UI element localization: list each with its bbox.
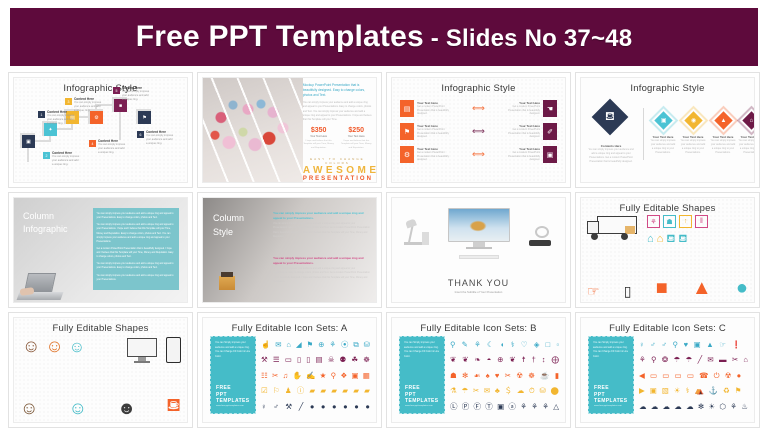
laptop-photo — [18, 272, 64, 300]
icon-a-3-8: ❖ — [340, 372, 347, 380]
header-banner: Free PPT Templates - Slides No 37~48 — [10, 8, 758, 66]
icon-grid-b: ⚲✎⚘☾◖⚕♡◈□▫ ❦❦❧◓⊕❦☨†↕⨁ ☗✻☙♠♥✂☢☸☕▮ ⚗☂✂✉♣＄☁… — [450, 337, 559, 414]
page-title: Free PPT Templates - Slides No 37~48 — [136, 20, 633, 54]
icon-a-2-3: ▭ — [285, 356, 292, 364]
icon-b-4-5: ♣ — [495, 387, 500, 395]
icon-c-3-10 — [746, 372, 748, 380]
icon-b-5-9: ⚘ — [542, 403, 549, 411]
thank-you-heading: THANK YOU — [392, 278, 565, 288]
icon-b-2-3: ❧ — [474, 356, 480, 364]
icon-c-2-3: ❂ — [662, 356, 668, 364]
icon-row-b-4: ⚗☂✂✉♣＄☁⏱⛁⬤ — [450, 383, 559, 398]
icon-a-5-1: ♀ — [261, 403, 267, 411]
icon-c-1-3: ♂ — [661, 341, 667, 349]
icon-c-3-2: ▭ — [650, 372, 657, 380]
diamond-1: ▣ — [654, 111, 672, 129]
slide-2-content: Mockup PowerPoint Presentation that is b… — [303, 83, 372, 182]
icon-b-1-3: ⚘ — [474, 341, 481, 349]
icon-row-b-2: ❦❦❧◓⊕❦☨†↕⨁ — [450, 352, 559, 367]
icon-b-2-9: ↕ — [542, 356, 546, 364]
slide-thumbnail-6[interactable]: Column Style You can simply impress your… — [197, 192, 382, 308]
step-text-1: You can simply impress your audience and… — [47, 114, 75, 126]
icon-a-2-1: ⚒ — [261, 356, 268, 364]
price-card-1: $350 Your Text Here I hope and believe t… — [303, 127, 335, 151]
price-text-1: I hope and believe that this Template wi… — [303, 140, 335, 151]
icon-a-2-4: ▯ — [297, 356, 301, 364]
banner-title-main: Free PPT Templates — [136, 20, 424, 53]
icon-b-2-7: ☨ — [522, 356, 526, 364]
diamond-1-text: You can simply impress your audience and… — [650, 139, 676, 154]
icon-a-2-6: ▤ — [315, 356, 322, 364]
slide-thumbnail-4[interactable]: Infographic Style ⛾ Contents Here You ca… — [575, 72, 760, 188]
free-ppt-card-a: You can Simply impress your audience and… — [210, 336, 256, 414]
row-1-right-text: Get a modern PowerPoint Presentation tha… — [502, 105, 540, 117]
diamond-4: ⌂ — [742, 111, 755, 129]
icon-c-3-8: ☢ — [725, 372, 732, 380]
icon-c-5-3: ☁ — [663, 403, 671, 411]
text-panel: You can simply impress your audience and… — [93, 208, 180, 290]
row-2-arrow-icon: ⟺ — [455, 127, 502, 136]
icon-a-1-7: ⚘ — [329, 341, 336, 349]
icon-c-4-8: ♻ — [723, 387, 730, 395]
icon-b-4-1: ⚗ — [450, 387, 457, 395]
scooter-delivery-icon: ● — [736, 278, 748, 298]
desk-scene-photo — [392, 204, 565, 260]
comparison-row-2: ⚑ Your Text HereGet a modern PowerPoint … — [400, 123, 557, 140]
slide-thumbnail-2[interactable]: Mockup PowerPoint Presentation that is b… — [197, 72, 382, 188]
comparison-row-1: ▤ Your Text HereGet a modern PowerPoint … — [400, 100, 557, 117]
diamond-4-text: You can simply impress your audience and… — [738, 139, 755, 154]
cardboard-box-photo — [219, 276, 235, 290]
character-laptop-delivery-icon: ☻ — [117, 398, 136, 419]
icon-b-2-2: ❦ — [462, 356, 468, 364]
icon-a-1-8: ⦿ — [341, 341, 349, 349]
icon-a-2-8: ⚉ — [340, 356, 347, 364]
row-3-left-text: Get a modern PowerPoint Presentation tha… — [417, 151, 455, 163]
icon-a-3-5: ✍ — [306, 372, 315, 380]
running-courier-icon: ▲ — [692, 278, 712, 298]
icon-c-4-1: ▶ — [639, 387, 645, 395]
tablet-device-icon — [166, 337, 181, 363]
slide-6-column-2: You can simply impress your audience and… — [273, 256, 370, 284]
step-number-5: 5 — [113, 87, 120, 94]
pricing-row: $350 Your Text Here I hope and believe t… — [303, 127, 372, 151]
icon-a-5-5: ● — [310, 403, 315, 411]
slide-6-heading-line2: Style — [213, 226, 244, 240]
diamond-3-icon: ▲ — [721, 117, 727, 123]
icon-c-4-5: ⚕ — [685, 387, 689, 395]
diamond-4-icon: ⌂ — [750, 118, 754, 124]
icon-b-2-5: ⊕ — [497, 356, 503, 364]
icon-c-2-1: ⚘ — [639, 356, 646, 364]
icon-a-1-4: ◢ — [296, 341, 302, 349]
column-2-heading: You can simply impress your audience and… — [273, 256, 370, 265]
icon-b-5-7: ⚘ — [520, 403, 527, 411]
icon-row-c-4: ▶▣▧☀⚕⛺⚓♻⚑ — [639, 383, 748, 398]
icon-b-1-6: ⚕ — [511, 341, 515, 349]
icon-b-3-10: ▮ — [555, 372, 559, 380]
slide-thumbnail-11[interactable]: Fully Editable Icon Sets: B You can Simp… — [386, 312, 571, 428]
icon-b-5-8: ⚘ — [531, 403, 538, 411]
diamond-2: ◉ — [684, 111, 702, 129]
diamond-2-text: You can simply impress your audience and… — [680, 139, 706, 154]
banner-title-sub: - Slides No 37~48 — [424, 25, 632, 52]
character-laptop-icon: ☺ — [69, 339, 85, 357]
do-not-stack-icon: ‖ — [695, 215, 708, 228]
icon-a-1-10: ⛁ — [364, 341, 370, 349]
thank-you-subtitle: Insert the Subtitle of Your Presentation — [392, 290, 565, 294]
icon-b-2-10: ⨁ — [551, 356, 559, 364]
icon-a-3-3: ♫ — [283, 372, 289, 380]
icon-a-4-8: ▰ — [342, 387, 348, 395]
icon-c-4-6: ⛺ — [694, 387, 703, 395]
delivery-truck-icon — [587, 214, 643, 244]
icon-b-1-10: ▫ — [556, 341, 559, 349]
price-caption-1: Your Text Here — [303, 135, 335, 138]
this-side-up-icon: ↑ — [679, 215, 692, 228]
character-woman-box-icon: ☺ — [22, 336, 40, 357]
monitor-icon — [448, 208, 510, 249]
card-b-top-text: You can Simply impress your audience and… — [404, 341, 440, 359]
price-amount-1: $350 — [303, 127, 335, 134]
icon-a-1-9: ⧉ — [353, 341, 358, 349]
step-number-6: 6 — [137, 131, 144, 138]
slide-5-paragraph-4: You can simply impress your audience and… — [97, 262, 176, 270]
icon-a-2-5: ▯ — [306, 356, 310, 364]
icon-c-4-7: ⚓ — [709, 387, 718, 395]
icon-b-5-10: △ — [553, 403, 559, 411]
icon-c-1-8: ☞ — [719, 341, 726, 349]
step-text-6: You can simply impress your audience and… — [146, 134, 174, 146]
template-preview-page: Free PPT Templates - Slides No 37~48 Inf… — [0, 8, 768, 435]
character-man-box-icon: ☺ — [20, 398, 38, 419]
card-c-brand-3: TEMPLATES — [594, 398, 628, 404]
row-1-left-icon: ▤ — [400, 100, 414, 117]
diamond-1-icon: ▣ — [661, 117, 667, 124]
icon-c-1-5: ♥ — [684, 341, 688, 349]
scooter-icon-b: ⛾ — [678, 233, 687, 247]
icon-c-3-4: ▭ — [675, 372, 682, 380]
slide-4-title: Infographic Style — [581, 83, 754, 94]
icon-b-3-3: ☙ — [474, 372, 481, 380]
icon-c-2-8: ▬ — [719, 356, 727, 364]
character-scooter-icon: ⛾ — [166, 395, 181, 419]
icon-b-5-6: ⓐ — [508, 403, 516, 411]
icon-c-3-6: ☎ — [699, 372, 708, 380]
icon-c-1-9: ❗ — [731, 341, 740, 349]
icon-c-4-9: ⚑ — [735, 387, 742, 395]
icon-a-4-4: ⓘ — [297, 387, 305, 395]
icon-c-1-1: ♀ — [639, 341, 645, 349]
icon-row-c-5: ☁☁☁☁☁✻☀⬡⚘♨ — [639, 399, 748, 414]
price-text-2: I hope and believe that this Template wi… — [340, 140, 372, 151]
icon-a-4-2: ⚐ — [273, 387, 280, 395]
price-card-2: $250 Your Text Here I hope and believe t… — [340, 127, 372, 151]
icon-row-b-3: ☗✻☙♠♥✂☢☸☕▮ — [450, 368, 559, 383]
icon-a-1-1: ☝ — [261, 341, 270, 349]
slide-5-paragraph-5: You can simply impress your audience and… — [97, 274, 176, 282]
slide-thumbnail-8[interactable]: Fully Editable Shapes ⚘ ☗ ↑ ‖ ⌂ ⌂ — [575, 192, 760, 308]
icon-a-4-6: ▰ — [320, 387, 326, 395]
icon-a-5-10: ● — [365, 403, 370, 411]
icon-a-5-8: ● — [343, 403, 348, 411]
icon-a-2-7: ☠ — [328, 356, 335, 364]
slide-5-heading-line1: Column — [23, 210, 68, 223]
icon-b-3-6: ✂ — [505, 372, 511, 380]
icon-a-3-1: ☷ — [261, 372, 268, 380]
icon-a-5-4: ╱ — [299, 403, 304, 411]
icon-c-5-8: ⬡ — [719, 403, 726, 411]
icon-c-4-3: ▧ — [662, 387, 669, 395]
icon-a-5-3: ⚒ — [285, 403, 292, 411]
icon-c-5-6: ✻ — [698, 403, 704, 411]
icon-b-4-2: ☂ — [461, 387, 468, 395]
icon-a-2-9: ☘ — [351, 356, 358, 364]
slide-thumbnail-9[interactable]: Fully Editable Shapes ☺ ☺ ☺ ☺ ☺ ☻ ⛾ — [8, 312, 193, 428]
icon-b-3-8: ☸ — [528, 372, 535, 380]
icon-row-a-4: ☑⚐♟ⓘ▰▰▰▰▰▰ — [261, 383, 370, 398]
row-3-right-text: Get a modern PowerPoint Presentation tha… — [502, 151, 540, 163]
card-a-top-text: You can Simply impress your audience and… — [215, 341, 251, 359]
icon-a-3-2: ✂ — [272, 372, 278, 380]
card-b-brand-3: TEMPLATES — [405, 398, 439, 404]
worker-with-trolley-icon: ■ — [656, 278, 668, 298]
scooter-icon: ⛾ — [605, 109, 615, 125]
slide-thumbnail-3[interactable]: Infographic Style ▤ Your Text HereGet a … — [386, 72, 571, 188]
slide-thumbnail-7[interactable]: THANK YOU Insert the Subtitle of Your Pr… — [386, 192, 571, 308]
icon-b-5-4: Ⓣ — [485, 403, 493, 411]
row-2-right-text: Get a modern PowerPoint Presentation tha… — [502, 128, 540, 140]
icon-a-2-10: ☸ — [363, 356, 370, 364]
icon-c-1-6: ▣ — [694, 341, 701, 349]
step-text-2: You can simply impress your audience and… — [52, 155, 80, 167]
icon-c-3-3: ▭ — [662, 372, 669, 380]
card-c-top-text: You can Simply impress your audience and… — [593, 341, 629, 359]
column-1-body: You can simply impress your audience and… — [273, 222, 370, 239]
icon-a-3-9: ▣ — [351, 372, 358, 380]
slide-thumbnail-1[interactable]: Infographic Style ▣ ✦ ▤ ⚙ ■ ⚑ — [8, 72, 193, 188]
step-text-4: You can simply impress your audience and… — [98, 143, 126, 155]
step-icon-6: ⚑ — [138, 111, 151, 124]
icon-a-4-9: ▰ — [353, 387, 359, 395]
card-b-url: www.free-ppt-templates.com — [405, 405, 439, 407]
step-number-4: 4 — [89, 140, 96, 147]
slide-5-paragraph-2: You can simply impress your audience and… — [97, 223, 176, 244]
icon-a-4-5: ▰ — [309, 387, 315, 395]
icon-a-1-3: ⌂ — [286, 341, 291, 349]
character-man-sitting-icon: ☺ — [69, 398, 87, 419]
slide-3-title: Infographic Style — [392, 83, 565, 94]
hero-diamond: ⛾ — [592, 99, 629, 136]
icon-a-3-7: ⚲ — [331, 372, 337, 380]
icon-row-a-3: ☷✂♫✋✍★⚲❖▣▦ — [261, 368, 370, 383]
icon-c-2-6: ╱ — [698, 356, 703, 364]
slide-thumbnail-12[interactable]: Fully Editable Icon Sets: C You can Simp… — [575, 312, 760, 428]
icon-a-4-7: ▰ — [331, 387, 337, 395]
icon-b-2-8: † — [532, 356, 536, 364]
icon-b-5-2: Ⓟ — [462, 403, 470, 411]
icon-row-a-5: ♀♂⚒╱●●●●●● — [261, 399, 370, 414]
step-number-1: 1 — [38, 111, 45, 118]
icon-b-3-5: ♥ — [495, 372, 499, 380]
icon-b-4-9: ⛁ — [539, 387, 545, 395]
free-ppt-card-c: You can Simply impress your audience and… — [588, 336, 634, 414]
slide-11-title: Fully Editable Icon Sets: B — [392, 323, 565, 334]
slide-6-heading: Column Style — [213, 212, 244, 239]
icon-c-3-9: ● — [737, 372, 742, 380]
card-c-url: www.free-ppt-templates.com — [594, 405, 628, 407]
fragile-icon: ☗ — [663, 215, 676, 228]
icon-a-5-6: ● — [321, 403, 326, 411]
icon-c-2-5: ☂ — [686, 356, 693, 364]
icon-c-1-10 — [746, 341, 748, 349]
icon-b-3-4: ♠ — [486, 372, 490, 380]
row-2-left-icon: ⚑ — [400, 123, 414, 140]
slide-5-heading-line2: Infographic — [23, 223, 68, 236]
icon-a-5-2: ♂ — [273, 403, 279, 411]
icon-b-3-7: ☢ — [516, 372, 523, 380]
row-1-left-text: Get a modern PowerPoint Presentation tha… — [417, 105, 455, 117]
icon-a-1-2: ✉ — [275, 341, 281, 349]
step-text-5: You can simply impress your audience and… — [122, 90, 150, 102]
hero-text: You can simply impress your audience and… — [587, 148, 635, 163]
slide-5-heading: Column Infographic — [23, 210, 68, 236]
icon-b-1-2: ✎ — [462, 341, 468, 349]
icon-c-2-7: ✉ — [707, 356, 713, 364]
icon-b-4-4: ✉ — [484, 387, 490, 395]
icon-a-2-2: ☰ — [273, 356, 280, 364]
icon-c-1-2: ♂ — [650, 341, 656, 349]
tablet-icon: ▯ — [624, 284, 632, 298]
icon-b-1-1: ⚲ — [450, 341, 456, 349]
icon-b-3-1: ☗ — [450, 372, 457, 380]
divider — [643, 108, 644, 160]
icon-c-1-4: ⚲ — [673, 341, 679, 349]
card-a-brand-3: TEMPLATES — [216, 398, 250, 404]
icon-b-4-8: ⏱ — [529, 387, 535, 395]
slide-2-headline: Mockup PowerPoint Presentation that is b… — [303, 83, 372, 98]
slide-thumbnail-10[interactable]: Fully Editable Icon Sets: A You can Simp… — [197, 312, 382, 428]
icon-a-3-4: ✋ — [292, 372, 301, 380]
icon-a-5-7: ● — [332, 403, 337, 411]
icon-c-3-5: ▭ — [687, 372, 694, 380]
icon-a-3-10: ▦ — [363, 372, 370, 380]
icon-b-3-2: ✻ — [462, 372, 468, 380]
column-2-body: You can simply impress your audience and… — [273, 267, 370, 284]
column-1-heading: You can simply impress your audience and… — [273, 211, 370, 220]
character-woman-packing-icon: ☺ — [45, 336, 63, 357]
icon-c-2-9: ✂ — [732, 356, 738, 364]
icon-c-5-1: ☁ — [639, 403, 647, 411]
row-3-right-icon: ▣ — [543, 146, 557, 163]
price-amount-2: $250 — [340, 127, 372, 134]
row-2-left-text: Get a modern PowerPoint Presentation tha… — [417, 128, 455, 140]
icon-b-4-6: ＄ — [505, 387, 513, 395]
price-caption-2: Your Text Here — [340, 135, 372, 138]
icon-row-c-2: ⚘⚲❂☂☂╱✉▬✂⌂ — [639, 352, 748, 367]
slide-5-paragraph-3: Get a modern PowerPoint Presentation tha… — [97, 247, 176, 259]
icon-c-5-7: ☀ — [708, 403, 715, 411]
icon-c-3-7: ⏻ — [714, 372, 720, 380]
warehouse-icon: ⌂ — [647, 233, 654, 247]
icon-row-b-5: ⓁⓅⒻⓉ▣ⓐ⚘⚘⚘△ — [450, 399, 559, 414]
slide-2-body: You can simply impress your audience and… — [303, 101, 372, 121]
diamond-3: ▲ — [714, 111, 732, 129]
icon-b-2-1: ❦ — [450, 356, 456, 364]
step-number-3: 3 — [65, 98, 72, 105]
slide-thumbnail-5[interactable]: Column Infographic You can simply impres… — [8, 192, 193, 308]
icon-b-1-5: ◖ — [500, 341, 505, 349]
icon-c-5-2: ☁ — [651, 403, 659, 411]
icon-row-c-1: ♀♂♂⚲♥▣▲☞❗ — [639, 337, 748, 352]
icon-a-3-6: ★ — [320, 372, 327, 380]
icon-b-3-9: ☕ — [540, 372, 549, 380]
icon-c-2-2: ⚲ — [651, 356, 657, 364]
icon-a-5-9: ● — [354, 403, 359, 411]
slide-5-paragraph-1: You can simply impress your audience and… — [97, 212, 176, 220]
row-3-arrow-icon: ⟺ — [455, 150, 502, 159]
diamond-3-text: You can simply impress your audience and… — [710, 139, 736, 154]
icon-b-4-7: ☁ — [517, 387, 525, 395]
diamond-2-icon: ◉ — [691, 117, 696, 124]
icon-c-1-7: ▲ — [706, 341, 713, 349]
icon-a-4-10: ▰ — [364, 387, 370, 395]
icon-b-1-4: ☾ — [487, 341, 494, 349]
icon-a-4-3: ♟ — [285, 387, 292, 395]
row-3-left-icon: ⚙ — [400, 146, 414, 163]
icon-c-4-10 — [746, 387, 748, 395]
slide-8-title: Fully Editable Shapes — [581, 203, 754, 214]
icon-b-4-3: ✂ — [473, 387, 479, 395]
step-text-3: You can simply impress your audience and… — [74, 101, 102, 113]
slide-6-column-1: You can simply impress your audience and… — [273, 211, 370, 239]
icon-b-4-10: ⬤ — [550, 387, 558, 395]
icon-row-a-2: ⚒☰▭▯▯▤☠⚉☘☸ — [261, 352, 370, 367]
icon-a-4-1: ☑ — [261, 387, 268, 395]
gift-boxes-photo — [203, 78, 303, 182]
icon-c-4-4: ☀ — [674, 387, 681, 395]
row-2-right-icon: ✐ — [543, 123, 557, 140]
slide-2-kicker: EASY TO CHANGE COLORS — [303, 157, 372, 165]
slide-9-title: Fully Editable Shapes — [14, 323, 187, 334]
icon-b-2-4: ◓ — [487, 356, 492, 364]
icon-b-1-8: ◈ — [534, 341, 540, 349]
slide-2-presentation: PRESENTATION — [303, 176, 372, 182]
icon-grid-a: ☝✉⌂◢⚑⊕⚘⦿⧉⛁ ⚒☰▭▯▯▤☠⚉☘☸ ☷✂♫✋✍★⚲❖▣▦ ☑⚐♟ⓘ▰▰▰… — [261, 337, 370, 414]
scooter-icon-a: ⛾ — [666, 233, 675, 247]
icon-c-3-1: ◀ — [639, 372, 645, 380]
icon-c-2-4: ☂ — [673, 356, 680, 364]
icon-row-a-1: ☝✉⌂◢⚑⊕⚘⦿⧉⛁ — [261, 337, 370, 352]
row-1-arrow-icon: ⟺ — [455, 104, 502, 113]
card-a-url: www.free-ppt-templates.com — [216, 405, 250, 407]
step-number-2: 2 — [43, 152, 50, 159]
row-1-right-icon: ☚ — [543, 100, 557, 117]
icon-c-5-4: ☁ — [674, 403, 682, 411]
icon-row-b-1: ⚲✎⚘☾◖⚕♡◈□▫ — [450, 337, 559, 352]
icon-c-5-10: ♨ — [741, 403, 748, 411]
step-icon-1: ▣ — [22, 135, 35, 148]
staircase-infographic: ▣ ✦ ▤ ⚙ ■ ⚑ 1 2 3 4 5 6 Content HereYou … — [14, 78, 187, 182]
icon-b-2-6: ❦ — [509, 356, 515, 364]
slide-10-title: Fully Editable Icon Sets: A — [203, 323, 376, 334]
slides-grid: Infographic Style ▣ ✦ ▤ ⚙ ■ ⚑ — [6, 72, 762, 432]
icon-c-4-2: ▣ — [650, 387, 657, 395]
hand-phone-icon: ☞ — [587, 284, 600, 298]
icon-b-5-5: ▣ — [497, 403, 504, 411]
free-ppt-card-b: You can Simply impress your audience and… — [399, 336, 445, 414]
icon-c-5-5: ☁ — [686, 403, 694, 411]
